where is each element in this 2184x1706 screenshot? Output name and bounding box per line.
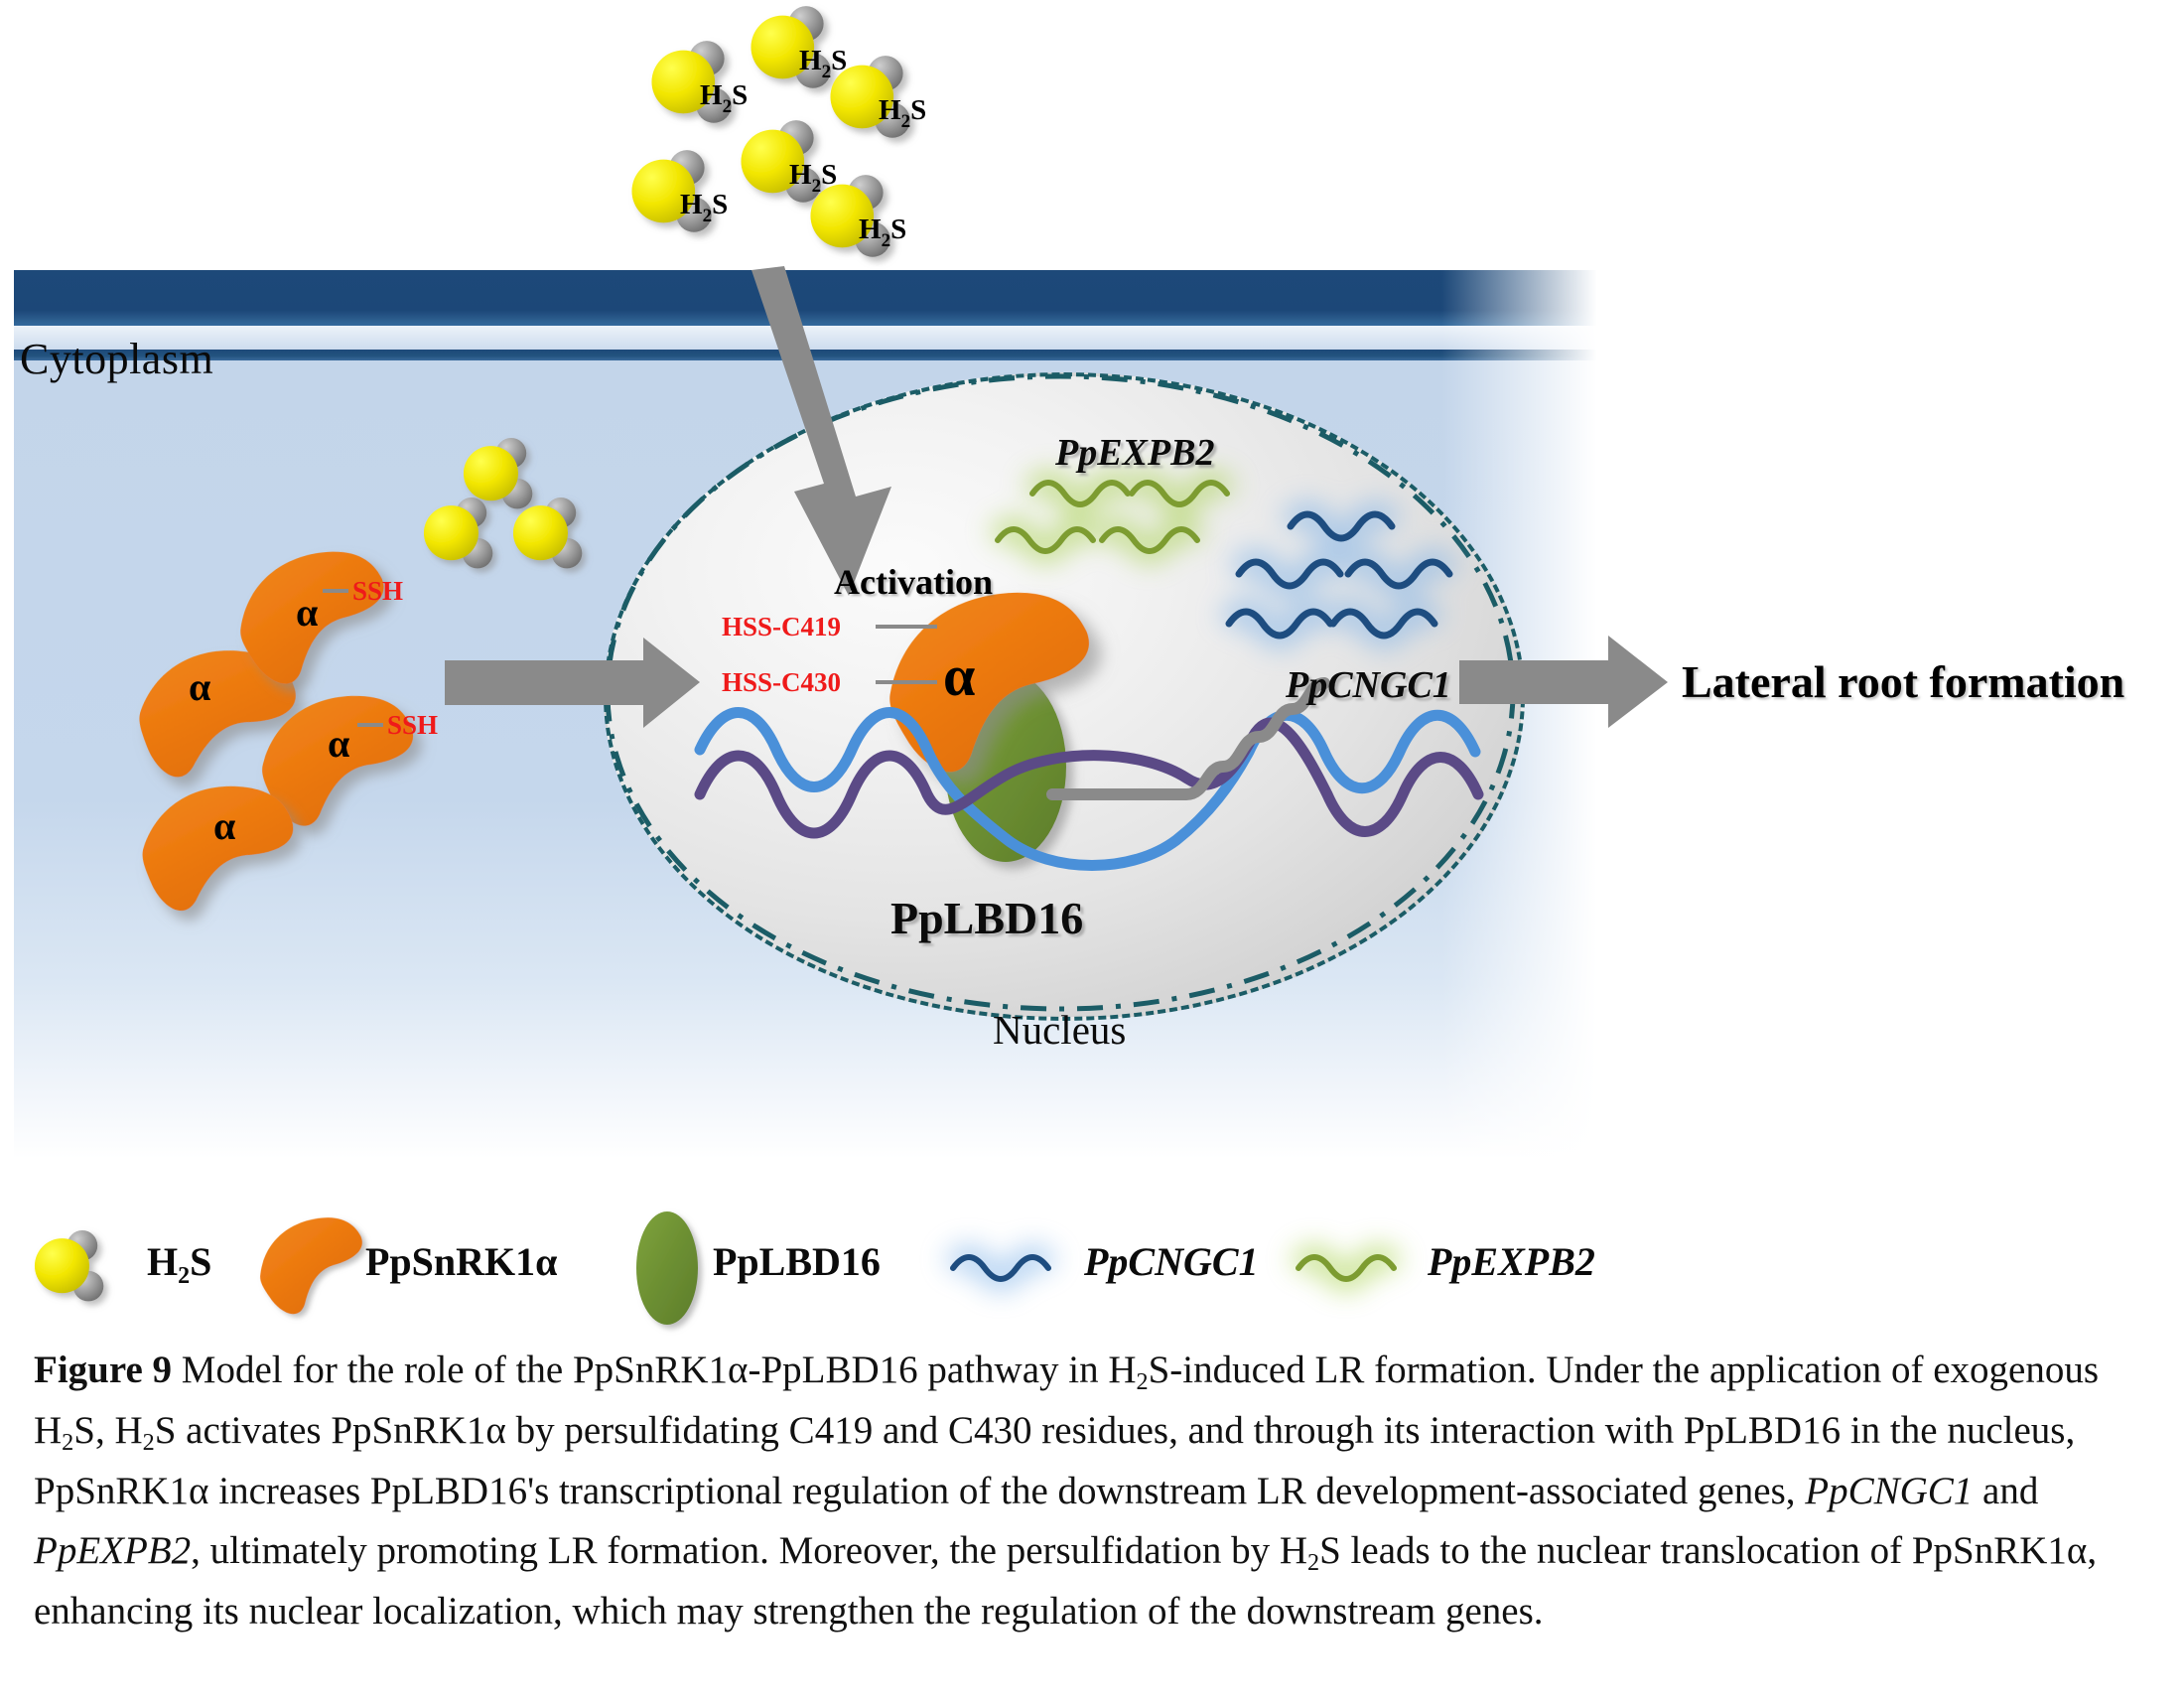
nucleus-label: Nucleus bbox=[993, 1006, 1126, 1054]
ssh-label-lower: SSH bbox=[387, 710, 438, 741]
svg-text:α: α bbox=[296, 590, 318, 635]
extracellular-h2s-group: H2S H2S H2S H2S H2S H2S bbox=[631, 6, 926, 257]
legend-item-cngc1: PpCNGC1 bbox=[1064, 1202, 1259, 1321]
hss-c430-leader-line bbox=[876, 680, 937, 684]
ppexpb2-gene-label: PpEXPB2 bbox=[1055, 431, 1214, 475]
legend-label-h2s: H₂S bbox=[147, 1238, 211, 1285]
hss-c419-label: HSS-C419 bbox=[722, 612, 841, 642]
ssh-label-upper: SSH bbox=[352, 576, 403, 607]
legend-item-expb2: PpEXPB2 bbox=[1408, 1202, 1595, 1321]
ssh-leader-line-upper bbox=[323, 589, 348, 593]
lateral-root-formation-label: Lateral root formation bbox=[1682, 655, 2124, 708]
ppcngc1-transcripts-group bbox=[1229, 514, 1449, 636]
figure-panel: Cytoplasm bbox=[0, 0, 2184, 1706]
pplbd16-nucleus-label: PpLBD16 bbox=[890, 892, 1083, 944]
legend-item-h2s: H₂S bbox=[127, 1202, 211, 1321]
lateral-root-output-arrow bbox=[1459, 636, 1668, 728]
ppexpb2-transcripts-group bbox=[998, 483, 1227, 551]
figure-caption-text: Model for the role of the PpSnRK1α-PpLBD… bbox=[34, 1349, 2099, 1633]
legend-label-expb2: PpEXPB2 bbox=[1428, 1238, 1595, 1285]
legend-label-snrk1a: PpSnRK1α bbox=[365, 1238, 558, 1285]
hss-c430-label: HSS-C430 bbox=[722, 667, 841, 698]
hss-c419-leader-line bbox=[876, 625, 937, 629]
svg-text:α: α bbox=[328, 721, 349, 766]
figure-legend: H₂S PpSnRK1α PpLBD16 PpCNGC1 PpEXPB2 bbox=[0, 1202, 2184, 1321]
svg-text:α: α bbox=[189, 664, 210, 709]
ppcngc1-gene-label: PpCNGC1 bbox=[1286, 663, 1451, 707]
activation-label: Activation bbox=[834, 561, 993, 603]
figure-number: Figure 9 bbox=[34, 1349, 172, 1391]
legend-label-lbd16: PpLBD16 bbox=[713, 1238, 881, 1285]
ssh-leader-line-lower bbox=[357, 723, 383, 727]
h2s-entry-arrow bbox=[751, 266, 891, 596]
figure-caption: Figure 9 Model for the role of the PpSnR… bbox=[34, 1341, 2158, 1642]
cytoplasmic-h2s-group bbox=[424, 438, 582, 568]
legend-label-cngc1: PpCNGC1 bbox=[1084, 1238, 1259, 1285]
legend-item-snrk1a: PpSnRK1α bbox=[345, 1202, 558, 1321]
legend-item-lbd16: PpLBD16 bbox=[693, 1202, 881, 1321]
nuclear-translocation-arrow bbox=[445, 638, 700, 728]
svg-text:α: α bbox=[213, 803, 235, 848]
alpha-symbol-nuclear: α bbox=[943, 643, 975, 708]
